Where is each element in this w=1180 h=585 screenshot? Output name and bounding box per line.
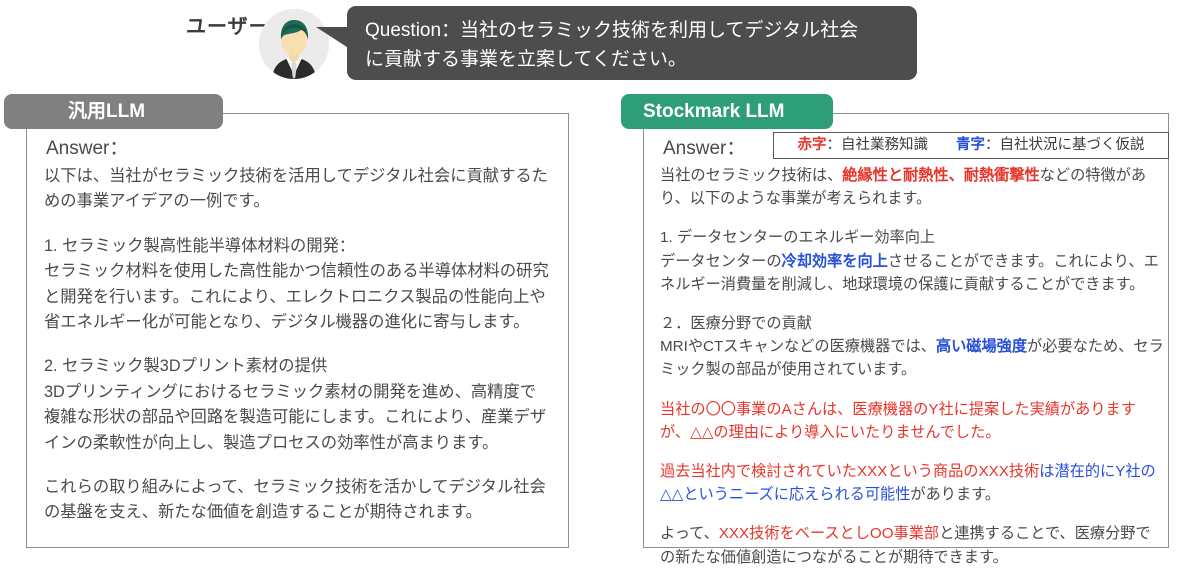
generic-answer-paragraph: 以下は、当社がセラミック技術を活用してデジタル社会に貢献するための事業アイデアの… [44, 164, 552, 215]
stockmark-answer-paragraph-knowledge: 当社の〇〇事業のAさんは、医療機器のY社に提案した実績がありますが、△△の理由に… [660, 398, 1165, 444]
text-run-plain: よって、 [660, 525, 719, 542]
legend-blue-key: 青字 [956, 137, 985, 153]
text-run-red-plain: 過去当社内で検討されていたXXXという商品のXXX技術 [660, 463, 1039, 480]
generic-answer-paragraph: 1. セラミック製高性能半導体材料の開発： セラミック材料を使用した高性能かつ信… [44, 234, 552, 336]
generic-answer-paragraph: 2. セラミック製3Dプリント素材の提供 3Dプリンティングにおけるセラミック素… [44, 354, 552, 456]
text-run-red: 絶縁性と耐熱性、耐熱衝撃性 [842, 167, 1039, 184]
legend-blue-text: ：自社状況に基づく仮説 [985, 137, 1145, 153]
text-run-plain: 当社のセラミック技術は、 [660, 167, 842, 184]
stockmark-answer-paragraph-hypothesis: 過去当社内で検討されていたXXXという商品のXXX技術は潜在的にY社の△△という… [660, 460, 1165, 506]
color-legend: 赤字：自社業務知識青字：自社状況に基づく仮説 [773, 132, 1169, 159]
stockmark-answer-paragraph-item-1: 1. データセンターのエネルギー効率向上 データセンターの冷却効率を向上させるこ… [660, 226, 1165, 296]
stockmark-llm-answer-label: Answer： [663, 133, 745, 160]
text-run-red-plain: XXX技術をベースとしOO事業部 [719, 525, 939, 542]
text-run-plain: ２．医療分野での貢献 MRIやCTスキャンなどの医療機器では、 [660, 315, 936, 355]
text-run-blue: 冷却効率を向上 [782, 253, 888, 270]
speech-bubble-tail [316, 27, 350, 49]
question-line-1: Question：当社のセラミック技術を利用してデジタル社会 [365, 16, 901, 45]
legend-red-text: ：自社業務知識 [827, 137, 929, 153]
generic-llm-answer-body: 以下は、当社がセラミック技術を活用してデジタル社会に貢献するための事業アイデアの… [44, 164, 552, 545]
text-run-red-plain: 当社の〇〇事業のAさんは、医療機器のY社に提案した実績がありますが、△△の理由に… [660, 401, 1136, 441]
question-line-2: に貢献する事業を立案してください。 [365, 45, 901, 74]
stockmark-answer-paragraph-intro: 当社のセラミック技術は、絶縁性と耐熱性、耐熱衝撃性などの特徴があり、以下のような… [660, 164, 1165, 210]
generic-answer-paragraph: これらの取り組みによって、セラミック技術を活かしてデジタル社会の基盤を支え、新た… [44, 475, 552, 526]
stockmark-llm-badge: Stockmark LLM [621, 94, 833, 129]
text-run-plain: があります。 [910, 486, 1000, 503]
stockmark-llm-answer-body: 当社のセラミック技術は、絶縁性と耐熱性、耐熱衝撃性などの特徴があり、以下のような… [660, 164, 1165, 585]
stockmark-answer-paragraph-conclusion: よって、XXX技術をベースとしOO事業部と連携することで、医療分野での新たな価値… [660, 522, 1165, 568]
user-label: ユーザー [186, 10, 270, 39]
generic-llm-badge: 汎用LLM [4, 94, 223, 129]
text-run-blue: 高い磁場強度 [936, 338, 1027, 355]
generic-llm-answer-label: Answer： [46, 133, 128, 160]
user-question-row: ユーザー Question：当社のセラミック技術を利用してデジタル社会 に貢献す… [0, 0, 1180, 92]
stockmark-answer-paragraph-item-2: ２．医療分野での貢献 MRIやCTスキャンなどの医療機器では、高い磁場強度が必要… [660, 312, 1165, 382]
question-speech-bubble: Question：当社のセラミック技術を利用してデジタル社会 に貢献する事業を立… [347, 6, 917, 80]
legend-red-key: 赤字 [798, 137, 827, 153]
